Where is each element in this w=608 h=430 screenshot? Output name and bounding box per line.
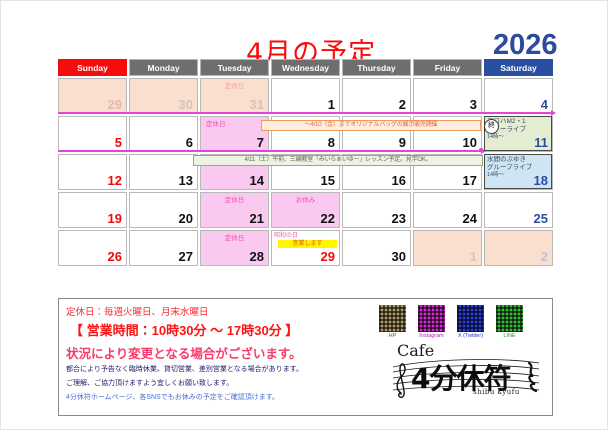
qr-code-icon[interactable] [379,305,406,332]
day-cell[interactable]: 27 [129,230,198,266]
day-number: 20 [179,212,193,226]
qr-code-line[interactable]: LINE [496,305,523,340]
event-end-mark-icon: 終 [484,119,499,134]
calendar-grid: Sunday Monday Tuesday Wednesday Thursday… [58,59,553,266]
showa-day-open-note: 営業します [278,240,337,248]
day-cell[interactable]: 23 [342,192,411,228]
day-number: 3 [470,98,477,112]
qr-code-icon[interactable] [418,305,445,332]
closed-tag: 定休日 [206,121,226,129]
logo-romaji-text: shibu kyufu [473,388,520,396]
day-number: 11 [534,136,548,150]
day-number: 5 [115,136,122,150]
event-banner-bag-sale-text: 〜4/10（金）までオリジナルバッグの展示販売開催 [305,121,438,130]
quarter-rest-icon [529,363,536,391]
day-number: 10 [463,136,477,150]
day-number: 8 [328,136,335,150]
day-number: 2 [399,98,406,112]
showa-day-label: 昭和の日 [274,232,337,240]
day-number: 18 [534,174,548,188]
dow-monday: Monday [129,59,198,76]
day-cell[interactable]: 12 [58,154,127,190]
day-cell[interactable]: 2 [484,230,553,266]
day-cell[interactable]: 5 [58,116,127,152]
closed-tag: 定休日 [201,235,268,243]
day-cell[interactable]: 4 [484,78,553,114]
day-cell[interactable]: お休み 22 [271,192,340,228]
closed-tag: 定休日 [201,83,268,91]
qr-code-label: HP [379,333,406,340]
day-cell[interactable]: 24 [413,192,482,228]
day-cell[interactable]: 2 [342,78,411,114]
calendar-week-row: 26 27 定休日 28 昭和の日 営業します 29 30 1 2 [58,230,553,266]
event-live-apr18-line2: グループライブ [487,164,549,172]
day-cell[interactable]: 定休日 21 [200,192,269,228]
day-cell-showa-day[interactable]: 昭和の日 営業します 29 [271,230,340,266]
day-cell[interactable]: 29 [58,78,127,114]
fine-print-line-3: 4分休符ホームページ、各SNSでもお休みの予定をご確認頂けます。 [66,392,279,402]
event-span-endpoint [479,148,483,152]
event-banner-sanshin-lesson[interactable]: 4/11（土）午前、三線教室「みいらぁいゆー」レッスン予定。見学OK。 [193,155,483,166]
year-label: 2026 [493,29,558,62]
change-notice-text: 状況により変更となる場合がございます。 [66,343,302,362]
day-cell[interactable]: 25 [484,192,553,228]
day-cell[interactable]: 定休日 28 [200,230,269,266]
day-number: 4 [541,98,548,112]
qr-code-label: LINE [496,333,523,340]
qr-code-twitter[interactable]: X (Twitter) [457,305,484,340]
business-hours-text: 【 営業時間：10時30分 〜 17時30分 】 [70,320,298,339]
page-header: 4月の予定 2026 [1,15,608,53]
day-number: 1 [328,98,335,112]
closed-days-text: 定休日：毎週火曜日、月末水曜日 [66,304,209,318]
calendar-page: 4月の予定 2026 Sunday Monday Tuesday Wednesd… [0,0,608,430]
day-number: 25 [534,212,548,226]
dow-thursday: Thursday [342,59,411,76]
day-number: 2 [541,250,548,264]
day-number: 15 [321,174,335,188]
qr-code-label: Instagram [418,333,445,340]
closed-tag: 定休日 [201,197,268,205]
day-number: 17 [463,174,477,188]
day-number: 29 [321,250,335,264]
qr-code-instagram[interactable]: Instagram [418,305,445,340]
day-number: 21 [250,212,264,226]
event-banner-bag-sale[interactable]: 〜4/10（金）までオリジナルバッグの展示販売開催 [261,120,481,131]
event-span-line-week2 [58,150,482,152]
day-cell[interactable]: 19 [58,192,127,228]
day-number: 26 [108,250,122,264]
fine-print-line-2: ご理解、ご協力頂けますよう宜しくお願い致します。 [66,378,233,388]
cafe-logo: Cafe 4分休符 shibu kyufu [389,341,549,411]
day-cell[interactable]: 13 [129,154,198,190]
dow-tuesday: Tuesday [200,59,269,76]
day-cell[interactable]: 定休日 31 [200,78,269,114]
treble-clef-icon [397,364,405,398]
day-number: 19 [108,212,122,226]
event-span-line-week1 [58,112,552,114]
day-number: 29 [108,98,122,112]
event-banner-sanshin-lesson-text: 4/11（土）午前、三線教室「みいらぁいゆー」レッスン予定。見学OK。 [245,156,432,165]
day-cell[interactable]: 3 [413,78,482,114]
day-cell[interactable]: 30 [129,78,198,114]
day-number: 27 [179,250,193,264]
dow-wednesday: Wednesday [271,59,340,76]
event-live-apr18[interactable]: 水間のぶゆき グループライブ 14時〜 18 [484,154,552,189]
qr-code-label: X (Twitter) [457,333,484,340]
fine-print-line-1: 都合により予告なく臨時休業、貸切営業、差別営業となる場合があります。 [66,364,303,374]
qr-code-icon[interactable] [496,305,523,332]
event-live-apr18-line1: 水間のぶゆき [487,156,549,164]
dow-saturday: Saturday [484,59,553,76]
calendar-week-row: 29 30 定休日 31 1 2 3 4 [58,78,553,114]
day-number: 31 [250,98,264,112]
day-cell[interactable]: 1 [271,78,340,114]
day-number: 1 [470,250,477,264]
day-number: 30 [179,98,193,112]
dow-sunday: Sunday [58,59,127,76]
day-number: 9 [399,136,406,150]
day-number: 24 [463,212,477,226]
day-cell[interactable]: 20 [129,192,198,228]
day-cell[interactable]: 26 [58,230,127,266]
day-number: 30 [392,250,406,264]
day-number: 23 [392,212,406,226]
day-number: 12 [108,174,122,188]
calendar-week-row: 19 20 定休日 21 お休み 22 23 24 25 [58,192,553,228]
day-cell[interactable]: 30 [342,230,411,266]
day-cell[interactable]: 6 [129,116,198,152]
calendar-week-row: 5 6 定休日 7 8 9 10 11 〜4/10（金）までオリジナルバッグの展… [58,116,553,152]
qr-code-hp[interactable]: HP [379,305,406,340]
day-of-week-header-row: Sunday Monday Tuesday Wednesday Thursday… [58,59,553,76]
day-number: 28 [250,250,264,264]
day-cell[interactable]: 定休日 7 [200,116,269,152]
qr-code-icon[interactable] [457,305,484,332]
day-number: 22 [321,212,335,226]
day-cell[interactable]: 1 [413,230,482,266]
day-number: 13 [179,174,193,188]
day-number: 14 [250,174,264,188]
dow-friday: Friday [413,59,482,76]
rest-tag: お休み [272,197,339,205]
day-number: 7 [257,136,264,150]
calendar-week-row: 12 13 定休日 14 15 16 17 18 4/11（土）午前、三線教室「… [58,154,553,190]
qr-code-group: HP Instagram X (Twitter) LINE [379,305,523,340]
day-number: 6 [186,136,193,150]
info-panel: 定休日：毎週火曜日、月末水曜日 【 営業時間：10時30分 〜 17時30分 】… [58,298,553,416]
day-number: 16 [392,174,406,188]
